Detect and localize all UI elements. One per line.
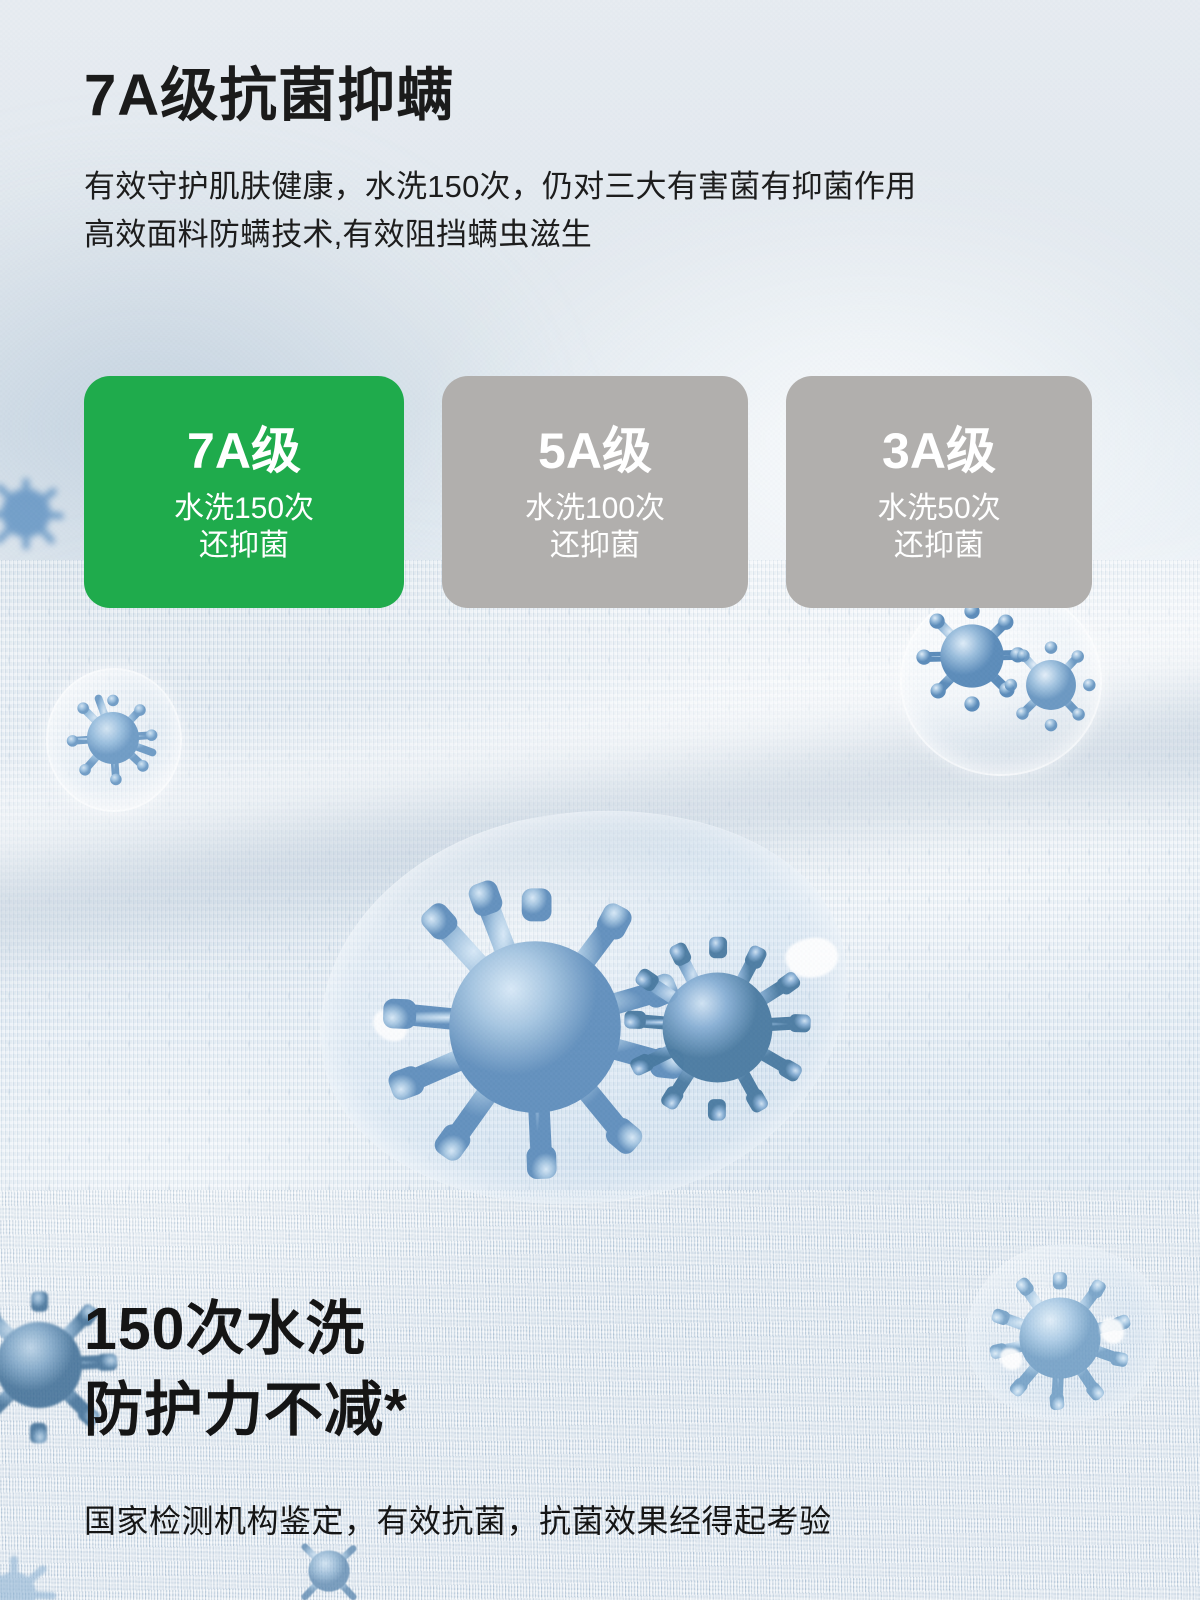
grade-card-7a[interactable]: 7A级 水洗150次 还抑菌 [84, 376, 404, 608]
grade-card-line-1: 水洗150次 [174, 490, 314, 528]
grade-card-line-2: 还抑菌 [199, 527, 289, 565]
grade-comparison-cards: 7A级 水洗150次 还抑菌 5A级 水洗100次 还抑菌 3A级 水洗50次 … [84, 376, 1104, 608]
hero-subtitle-line-1: 有效守护肌肤健康，水洗150次，仍对三大有害菌有抑菌作用 [84, 164, 916, 209]
grade-card-5a[interactable]: 5A级 水洗100次 还抑菌 [442, 376, 748, 608]
bottom-claim-line-1: 150次水洗 [84, 1300, 365, 1359]
hero-subtitle-line-2: 高效面料防螨技术,有效阻挡螨虫滋生 [84, 212, 592, 257]
bottom-claim-note: 国家检测机构鉴定，有效抗菌，抗菌效果经得起考验 [84, 1496, 832, 1542]
grade-card-title: 5A级 [538, 426, 652, 476]
product-detail-page: 7A级抗菌抑螨 有效守护肌肤健康，水洗150次，仍对三大有害菌有抑菌作用 高效面… [0, 0, 1200, 1600]
page-title: 7A级抗菌抑螨 [84, 66, 455, 127]
grade-card-title: 7A级 [187, 426, 301, 476]
grade-card-line-2: 还抑菌 [550, 527, 640, 565]
grade-card-line-1: 水洗100次 [525, 490, 665, 528]
bottom-claim-line-2: 防护力不减* [84, 1381, 408, 1440]
grade-card-line-2: 还抑菌 [894, 527, 984, 565]
grade-card-3a[interactable]: 3A级 水洗50次 还抑菌 [786, 376, 1092, 608]
grade-card-title: 3A级 [882, 426, 996, 476]
grade-card-line-1: 水洗50次 [877, 490, 1000, 528]
